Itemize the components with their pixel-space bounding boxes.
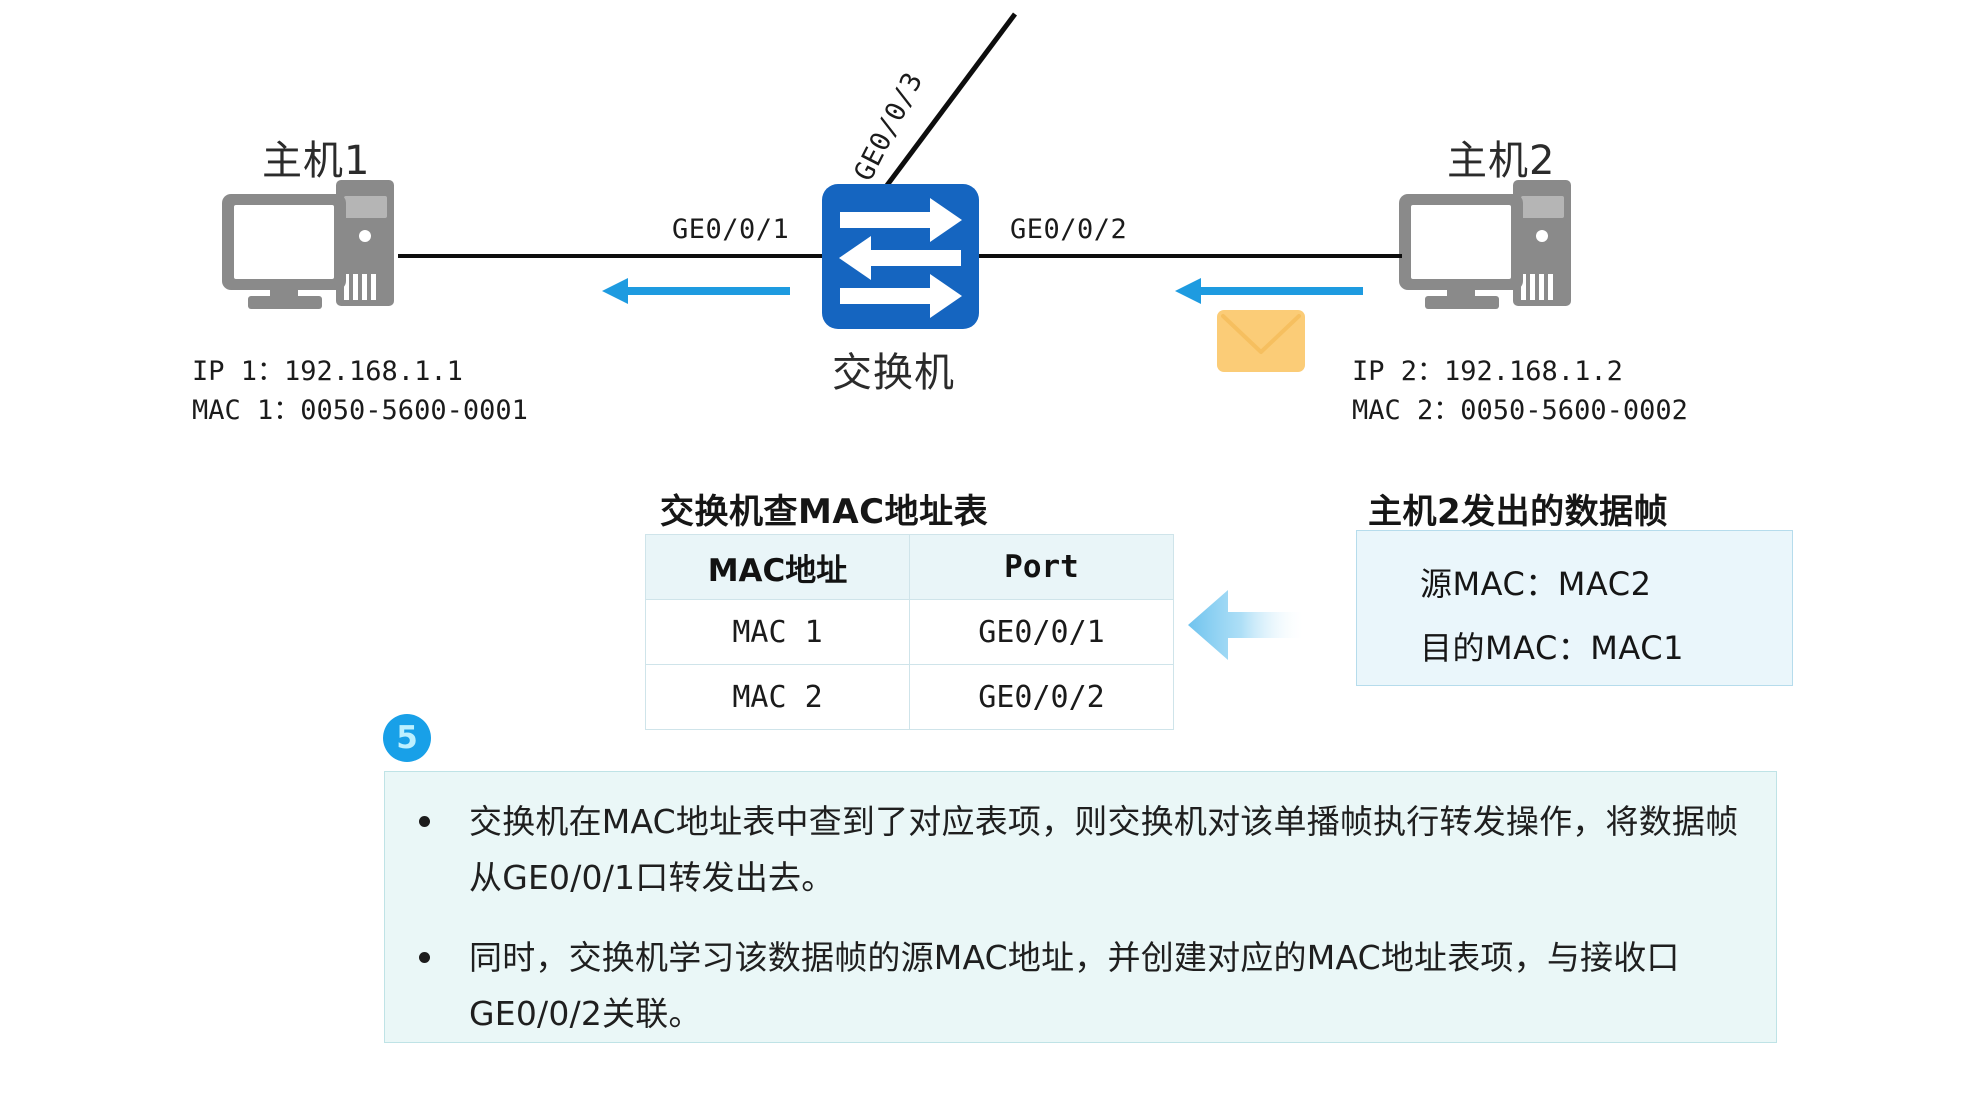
cell-port: GE0/0/2: [910, 665, 1174, 730]
frame-box-title: 主机2发出的数据帧: [1368, 484, 1668, 533]
step-description-box: 交换机在MAC地址表中查到了对应表项，则交换机对该单播帧执行转发操作，将数据帧从…: [384, 771, 1777, 1043]
column-header-mac: MAC地址: [646, 535, 910, 600]
mac-address-table: MAC地址 Port MAC 1 GE0/0/1 MAC 2 GE0/0/2: [645, 534, 1174, 730]
host1-ip: IP 1：192.168.1.1: [192, 352, 463, 391]
diagram-canvas: 主机1 IP 1：192.168.1.1 MAC 1：0050-5600-000…: [0, 0, 1975, 1093]
host2-mac: MAC 2：0050-5600-0002: [1352, 391, 1688, 430]
list-item: 交换机在MAC地址表中查到了对应表项，则交换机对该单播帧执行转发操作，将数据帧从…: [405, 794, 1758, 906]
cell-mac: MAC 2: [646, 665, 910, 730]
link-host1-switch: [398, 254, 822, 258]
bullet-text: 同时，交换机学习该数据帧的源MAC地址，并创建对应的MAC地址表项，与接收口GE…: [469, 938, 1680, 1033]
link-switch-host2: [978, 254, 1402, 258]
flow-arrow-to-host1: [600, 275, 790, 307]
step-number-badge: 5: [383, 714, 431, 762]
step-bullet-list: 交换机在MAC地址表中查到了对应表项，则交换机对该单播帧执行转发操作，将数据帧从…: [405, 794, 1758, 1042]
list-item: 同时，交换机学习该数据帧的源MAC地址，并创建对应的MAC地址表项，与接收口GE…: [405, 930, 1758, 1042]
port-label-ge0-0-2: GE0/0/2: [1010, 214, 1127, 245]
table-row: MAC 1 GE0/0/1: [646, 600, 1174, 665]
port-label-ge0-0-1: GE0/0/1: [672, 214, 789, 245]
frame-dest-mac: 目的MAC：MAC1: [1420, 623, 1684, 669]
bullet-icon: [419, 952, 430, 963]
host1-mac: MAC 1：0050-5600-0001: [192, 391, 528, 430]
switch-icon: [822, 184, 979, 329]
host1-computer-icon: [218, 178, 403, 313]
bullet-text: 交换机在MAC地址表中查到了对应表项，则交换机对该单播帧执行转发操作，将数据帧从…: [469, 802, 1738, 897]
frame-source-mac: 源MAC：MAC2: [1420, 559, 1651, 605]
frame-detail-box: 源MAC：MAC2 目的MAC：MAC1: [1356, 530, 1793, 686]
switch-caption: 交换机: [832, 340, 955, 398]
table-lookup-arrow-icon: [1186, 588, 1306, 662]
cell-port: GE0/0/1: [910, 600, 1174, 665]
cell-mac: MAC 1: [646, 600, 910, 665]
data-frame-envelope-icon: [1217, 310, 1305, 372]
table-row: MAC 2 GE0/0/2: [646, 665, 1174, 730]
table-header-row: MAC地址 Port: [646, 535, 1174, 600]
bullet-icon: [419, 816, 430, 827]
host2-ip: IP 2：192.168.1.2: [1352, 352, 1623, 391]
host2-computer-icon: [1395, 178, 1580, 313]
flow-arrow-from-host2: [1173, 275, 1363, 307]
mac-table-title: 交换机查MAC地址表: [660, 484, 988, 533]
column-header-port: Port: [910, 535, 1174, 600]
